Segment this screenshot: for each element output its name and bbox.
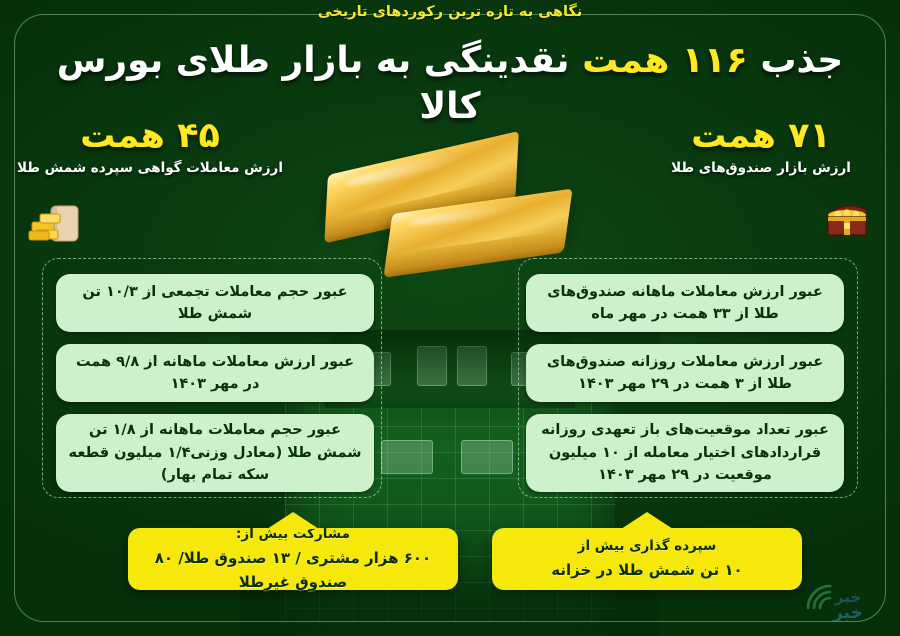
fact-card-right-1: عبور ارزش معاملات ماهانه صندوق‌های طلا ا… [526, 274, 844, 332]
fact-card-left-3-text: عبور حجم معاملات ماهانه از ۱/۸ تن شمش طل… [68, 419, 362, 486]
gold-certificate-icon [26, 198, 84, 246]
treasure-chest-icon [818, 194, 876, 242]
kicker-text: نگاهی به تازه ترین رکوردهای تاریخی [0, 4, 900, 20]
svg-text:خبر: خبر [832, 603, 863, 623]
fact-card-left-2-text: عبور ارزش معاملات ماهانه از ۹/۸ همت در م… [68, 351, 362, 396]
callout-left-line-1: مشارکت بیش از: [236, 524, 350, 546]
fact-card-left-1: عبور حجم معاملات تجمعی از ۱۰/۳ تن شمش طل… [56, 274, 374, 332]
fact-card-right-1-text: عبور ارزش معاملات ماهانه صندوق‌های طلا ا… [538, 281, 832, 326]
callout-participation: مشارکت بیش از: ۶۰۰ هزار مشتری / ۱۳ صندوق… [128, 528, 458, 590]
callout-left-line-2: ۶۰۰ هزار مشتری / ۱۳ صندوق طلا/ ۸۰ صندوق … [142, 546, 444, 594]
callout-right-line-1: سپرده گذاری بیش از [578, 536, 717, 558]
callout-right-line-2: ۱۰ تن شمش طلا در خزانه [551, 558, 742, 582]
fact-card-right-3-text: عبور تعداد موقعیت‌های باز تعهدی روزانه ق… [538, 419, 832, 486]
headline-part-1: جذب [760, 40, 843, 81]
stat-block-funds: ۷۱ همت ارزش بازار صندوق‌های طلا [636, 118, 886, 176]
fact-card-right-2-text: عبور ارزش معاملات روزانه صندوق‌های طلا ا… [538, 351, 832, 396]
headline-number: ۱۱۶ همت [582, 40, 748, 81]
callout-deposits: سپرده گذاری بیش از ۱۰ تن شمش طلا در خزان… [492, 528, 802, 590]
fact-card-left-2: عبور ارزش معاملات ماهانه از ۹/۸ همت در م… [56, 344, 374, 402]
stat-value-left: ۴۵ همت [10, 118, 290, 155]
stat-caption-left: ارزش معاملات گواهی سپرده شمش طلا [10, 160, 290, 176]
gold-bars-icon [316, 146, 584, 266]
signal-waves-icon [808, 586, 830, 608]
stat-block-certificate: ۴۵ همت ارزش معاملات گواهی سپرده شمش طلا [10, 118, 290, 176]
fact-card-right-2: عبور ارزش معاملات روزانه صندوق‌های طلا ا… [526, 344, 844, 402]
fact-card-right-3: عبور تعداد موقعیت‌های باز تعهدی روزانه ق… [526, 414, 844, 492]
watermark-logo: خبر خبر [786, 568, 882, 628]
stat-value-right: ۷۱ همت [636, 118, 886, 155]
fact-card-left-1-text: عبور حجم معاملات تجمعی از ۱۰/۳ تن شمش طل… [68, 281, 362, 326]
stat-caption-right: ارزش بازار صندوق‌های طلا [636, 160, 886, 176]
headline-part-2: نقدینگی به بازار طلای بورس کالا [57, 40, 570, 127]
infographic-canvas: نگاهی به تازه ترین رکوردهای تاریخی جذب ۱… [0, 0, 900, 636]
fact-card-left-3: عبور حجم معاملات ماهانه از ۱/۸ تن شمش طل… [56, 414, 374, 492]
